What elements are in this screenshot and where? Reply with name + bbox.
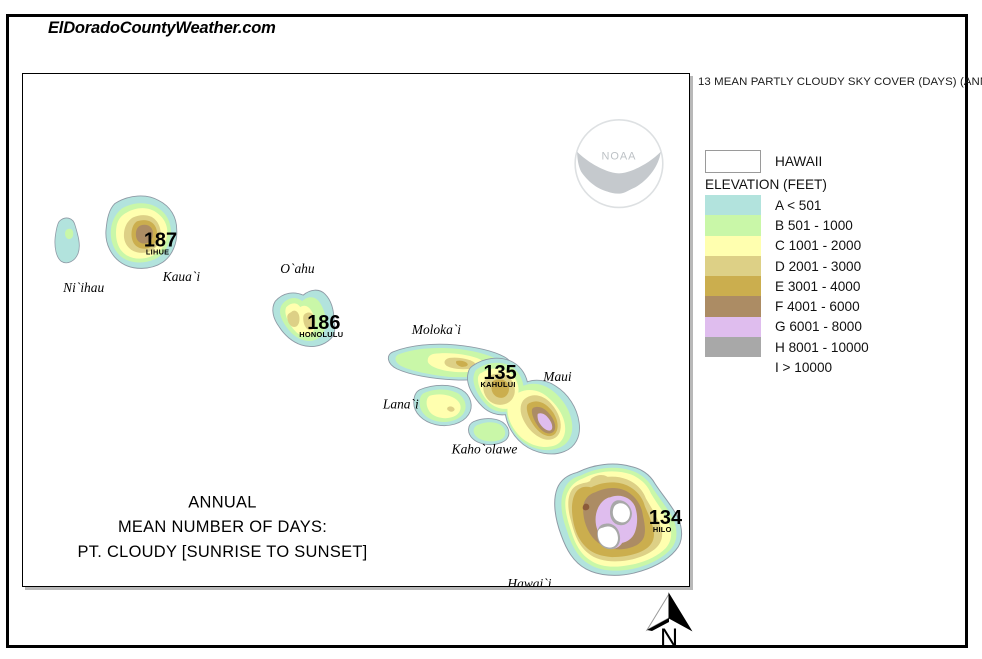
legend-label-state: HAWAII xyxy=(775,154,822,169)
noaa-logo-text: NOAA xyxy=(601,151,636,163)
legend-swatch-h xyxy=(705,337,761,357)
legend-swatch-a xyxy=(705,195,761,215)
caption-line-1: ANNUAL xyxy=(188,493,256,511)
legend-swatch-d xyxy=(705,256,761,276)
legend-row-e: E 3001 - 4000 xyxy=(705,276,955,296)
caption-line-3: PT. CLOUDY [SUNRISE TO SUNSET] xyxy=(78,543,368,561)
island-label-lanai: Lana`i xyxy=(382,397,419,412)
island-label-oahu: O`ahu xyxy=(280,261,315,276)
legend-label-c: C 1001 - 2000 xyxy=(775,238,861,253)
island-label-kahoolawe: Kaho`olawe xyxy=(451,442,518,457)
station-name-honolulu: HONOLULU xyxy=(299,330,343,339)
legend-row-h: H 8001 - 10000 xyxy=(705,337,955,357)
legend-elevation-title: ELEVATION (FEET) xyxy=(705,177,955,192)
north-arrow: N xyxy=(634,592,704,656)
station-name-lihue: LIHUE xyxy=(146,247,170,256)
north-arrow-letter: N xyxy=(634,624,704,653)
island-label-maui: Maui xyxy=(542,369,572,384)
legend-swatch-c xyxy=(705,236,761,256)
legend-swatch-b xyxy=(705,215,761,235)
island-niihau xyxy=(55,218,79,263)
legend-label-f: F 4001 - 6000 xyxy=(775,299,860,314)
legend-swatch-g xyxy=(705,317,761,337)
legend-row-state: HAWAII xyxy=(705,147,955,175)
sheet-header-label: 13 MEAN PARTLY CLOUDY SKY COVER (DAYS) (… xyxy=(698,76,982,88)
legend-row-d: D 2001 - 3000 xyxy=(705,256,955,276)
legend-swatch-e xyxy=(705,276,761,296)
island-label-kauai: Kaua`i xyxy=(162,269,201,284)
station-kahului: 135 KAHULUI xyxy=(481,362,517,389)
map-panel[interactable]: NOAA Ni`ihau Kaua`i O`ahu Moloka`i Lana`… xyxy=(22,73,690,587)
legend-swatch-i xyxy=(705,357,761,377)
map-caption: ANNUAL MEAN NUMBER OF DAYS: PT. CLOUDY [… xyxy=(78,493,368,561)
noaa-logo: NOAA xyxy=(575,120,663,208)
hawaii-map[interactable]: NOAA Ni`ihau Kaua`i O`ahu Moloka`i Lana`… xyxy=(23,74,689,586)
legend-label-h: H 8001 - 10000 xyxy=(775,340,869,355)
brand-title: ElDoradoCountyWeather.com xyxy=(39,19,285,38)
legend-label-d: D 2001 - 3000 xyxy=(775,259,861,274)
station-name-hilo: HILO xyxy=(653,525,672,534)
legend-label-e: E 3001 - 4000 xyxy=(775,279,860,294)
legend-label-a: A < 501 xyxy=(775,198,822,213)
island-label-niihau: Ni`ihau xyxy=(62,280,104,295)
legend-label-b: B 501 - 1000 xyxy=(775,218,853,233)
legend-row-i: I > 10000 xyxy=(705,357,955,377)
legend-row-g: G 6001 - 8000 xyxy=(705,317,955,337)
island-label-molokai: Moloka`i xyxy=(411,322,462,337)
legend-label-g: G 6001 - 8000 xyxy=(775,319,862,334)
legend-row-b: B 501 - 1000 xyxy=(705,215,955,235)
legend-row-f: F 4001 - 6000 xyxy=(705,296,955,316)
map-legend: HAWAII ELEVATION (FEET) A < 501 B 501 - … xyxy=(705,147,955,378)
station-name-kahului: KAHULUI xyxy=(481,380,516,389)
caption-line-2: MEAN NUMBER OF DAYS: xyxy=(118,518,327,536)
island-label-hawaii: Hawai`i xyxy=(506,576,551,586)
legend-swatch-state xyxy=(705,150,761,173)
legend-row-a: A < 501 xyxy=(705,195,955,215)
legend-row-c: C 1001 - 2000 xyxy=(705,236,955,256)
island-lanai xyxy=(414,385,471,425)
legend-swatch-f xyxy=(705,296,761,316)
legend-label-i: I > 10000 xyxy=(775,360,832,375)
